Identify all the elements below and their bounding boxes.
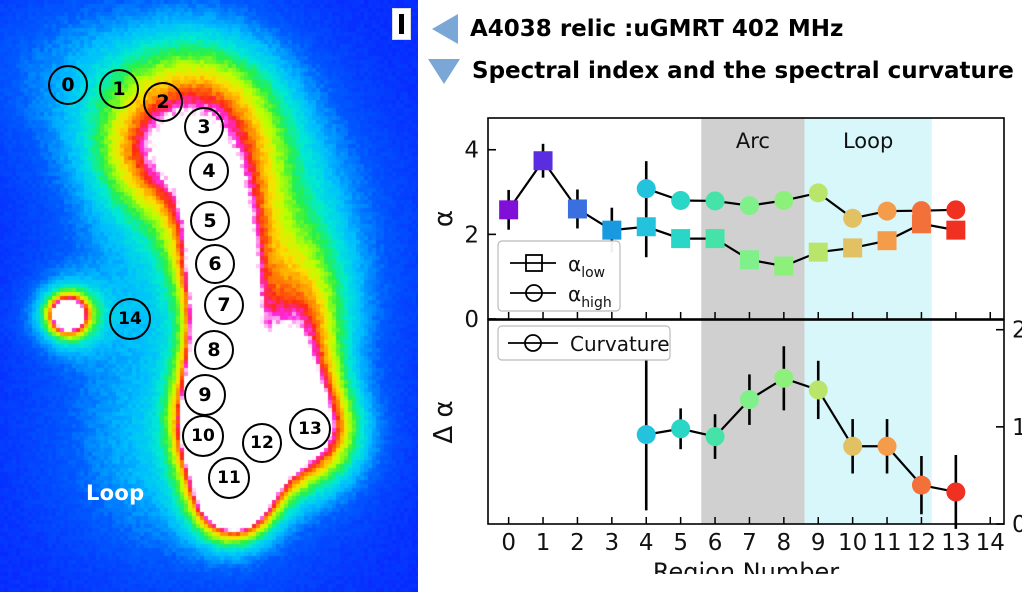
marker-circle-11	[878, 437, 897, 456]
chart-svg: ArcLoop02401201234567891011121314αΔ αReg…	[432, 104, 1022, 574]
region-label: 0	[61, 74, 74, 96]
region-label: 1	[112, 78, 125, 100]
region-label: 13	[298, 419, 322, 439]
marker-square-3	[602, 221, 621, 240]
marker-circle-13	[946, 482, 965, 501]
xtick-label-1: 1	[536, 530, 551, 556]
marker-circle-6	[706, 427, 725, 446]
marker-square-1	[534, 151, 553, 170]
marker-circle-9	[809, 183, 828, 202]
marker-circle-8	[774, 369, 793, 388]
title-row-secondary: Spectral index and the spectral curvatur…	[428, 58, 1014, 84]
xtick-label-4: 4	[639, 530, 654, 556]
region-marker-0: 0	[48, 65, 88, 105]
xtick-label-11: 11	[872, 530, 901, 556]
xtick-label-8: 8	[777, 530, 792, 556]
region-label: 9	[198, 384, 211, 406]
xtick-label-5: 5	[673, 530, 688, 556]
xtick-label-13: 13	[941, 530, 970, 556]
title-row-primary: A4038 relic :uGMRT 402 MHz	[432, 14, 843, 44]
marker-square-13	[946, 221, 965, 240]
region-label: 12	[250, 433, 274, 453]
region-label: 6	[208, 253, 221, 275]
marker-square-5	[671, 229, 690, 248]
region-marker-13: 13	[289, 408, 331, 450]
xtick-label-14: 14	[976, 530, 1005, 556]
marker-circle-4	[637, 179, 656, 198]
radio-map-panel: 01234567891011121314 Arc Loop	[0, 0, 418, 592]
region-label: 10	[191, 426, 215, 446]
region-marker-7: 7	[204, 285, 244, 325]
marker-circle-5	[671, 419, 690, 438]
legend-label-curvature: Curvature	[570, 332, 670, 356]
xtick-label-0: 0	[501, 530, 516, 556]
marker-circle-9	[809, 380, 828, 399]
marker-circle-12	[912, 476, 931, 495]
marker-circle-12	[912, 201, 931, 220]
upper-ytick-label: 4	[464, 138, 479, 164]
marker-circle-13	[946, 200, 965, 219]
marker-square-4	[637, 217, 656, 236]
region-marker-4: 4	[189, 151, 229, 191]
marker-square-0	[499, 200, 518, 219]
region-label: 14	[118, 309, 142, 329]
region-marker-2: 2	[143, 82, 183, 122]
map-label-arc: Arc	[267, 334, 307, 358]
xtick-label-7: 7	[742, 530, 757, 556]
region-marker-6: 6	[195, 244, 235, 284]
marker-circle-5	[671, 191, 690, 210]
map-label-loop: Loop	[86, 481, 144, 505]
marker-square-11	[878, 231, 897, 250]
band-region	[804, 320, 931, 524]
lower-ytick-label: 2	[1012, 318, 1022, 344]
region-label: 4	[202, 160, 215, 182]
beam-scale-bar-icon	[392, 8, 411, 40]
region-marker-10: 10	[182, 415, 224, 457]
region-marker-12: 12	[242, 423, 282, 463]
marker-square-9	[809, 243, 828, 262]
upper-ytick-label: 0	[464, 307, 479, 333]
region-marker-11: 11	[208, 457, 250, 499]
marker-circle-4	[637, 425, 656, 444]
region-label: 8	[207, 339, 220, 361]
region-marker-1: 1	[99, 69, 139, 109]
region-label: 11	[217, 468, 241, 488]
xlabel: Region Number	[653, 558, 839, 574]
marker-square-7	[740, 250, 759, 269]
region-label: 5	[203, 210, 216, 232]
title-line-1: A4038 relic :uGMRT 402 MHz	[470, 16, 843, 42]
marker-square-8	[774, 257, 793, 276]
region-marker-14: 14	[109, 298, 151, 340]
xtick-label-3: 3	[605, 530, 620, 556]
xtick-label-12: 12	[907, 530, 936, 556]
figure-root: 01234567891011121314 Arc Loop A4038 reli…	[0, 0, 1024, 592]
region-label: 7	[217, 294, 230, 316]
band-label-arc: Arc	[736, 129, 770, 153]
band-label-loop: Loop	[843, 129, 893, 153]
marker-circle-8	[774, 191, 793, 210]
marker-square-2	[568, 199, 587, 218]
marker-circle-7	[740, 390, 759, 409]
marker-circle-10	[843, 437, 862, 456]
triangle-down-icon	[428, 59, 460, 84]
marker-square-10	[843, 238, 862, 257]
xtick-label-6: 6	[708, 530, 723, 556]
marker-circle-11	[878, 202, 897, 221]
region-marker-9: 9	[184, 374, 226, 416]
triangle-left-icon	[432, 14, 458, 44]
lower-ylabel: Δ α	[432, 400, 459, 443]
xtick-label-9: 9	[811, 530, 826, 556]
region-label: 2	[156, 91, 169, 113]
upper-ytick-label: 2	[464, 222, 479, 248]
xtick-label-10: 10	[838, 530, 867, 556]
upper-ylabel: α	[432, 210, 459, 227]
marker-circle-6	[706, 191, 725, 210]
region-marker-8: 8	[194, 330, 234, 370]
region-marker-3: 3	[184, 107, 224, 147]
lower-ytick-label: 0	[1012, 512, 1022, 538]
region-label: 3	[197, 116, 210, 138]
lower-ytick-label: 1	[1012, 415, 1022, 441]
title-line-2: Spectral index and the spectral curvatur…	[472, 58, 1014, 84]
marker-circle-7	[740, 196, 759, 215]
marker-circle-10	[843, 209, 862, 228]
spectral-index-chart: ArcLoop02401201234567891011121314αΔ αReg…	[432, 104, 1022, 574]
region-marker-5: 5	[190, 201, 230, 241]
marker-square-6	[706, 229, 725, 248]
band-region	[701, 320, 804, 524]
xtick-label-2: 2	[570, 530, 585, 556]
